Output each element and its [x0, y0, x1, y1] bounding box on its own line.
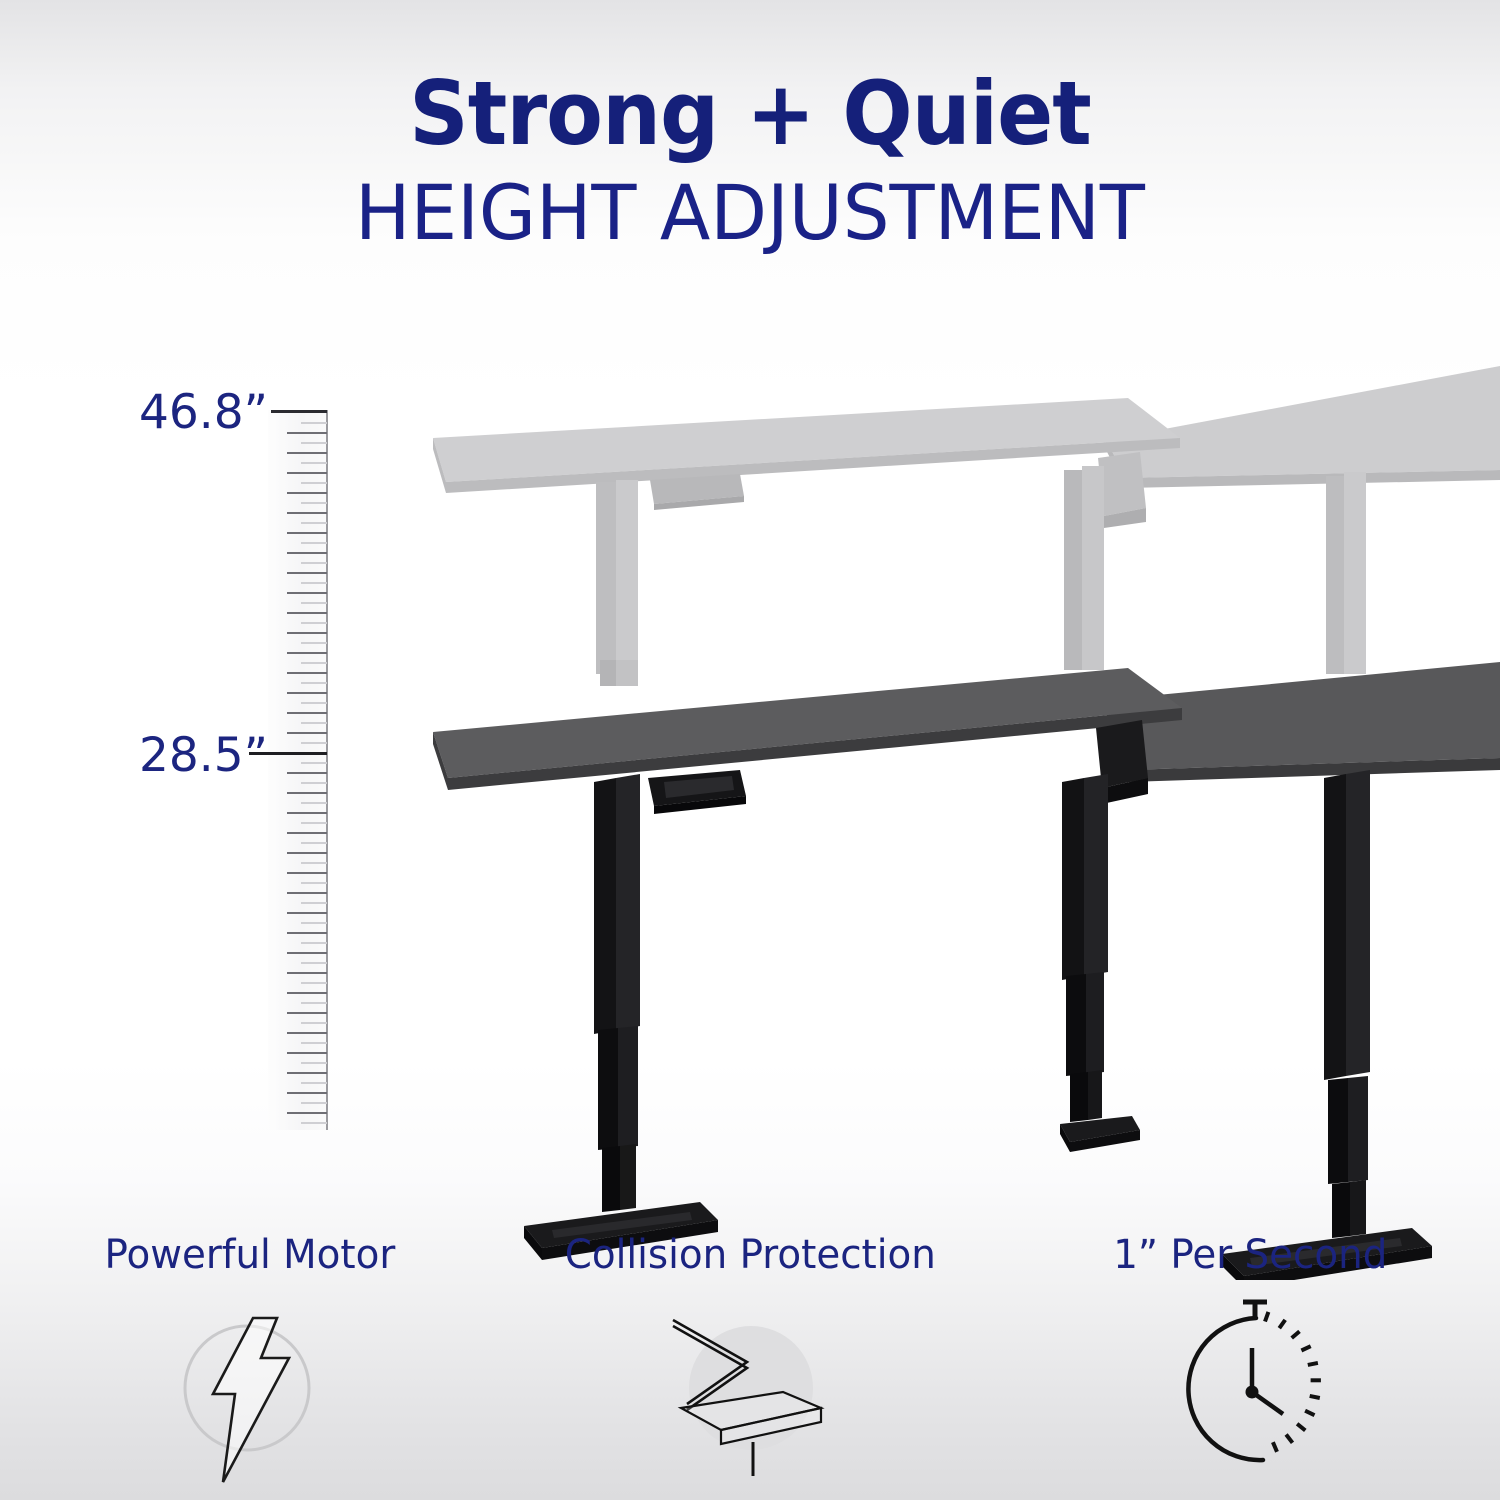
raised-left-leg: [596, 480, 638, 686]
lowered-control-panel: [648, 770, 746, 814]
lowered-return-leg: [1222, 770, 1432, 1280]
lowered-left-leg: [524, 774, 718, 1260]
standing-desk-illustration: [0, 330, 1500, 1280]
feature-label: Collision Protection: [564, 1232, 935, 1278]
feature-label: Powerful Motor: [105, 1232, 396, 1278]
feature-speed: 1” Per Second: [1000, 1232, 1500, 1500]
feature-strip: Powerful Motor Collision Protection 1”: [0, 1232, 1500, 1500]
lowered-corner-leg: [1060, 774, 1140, 1152]
product-infographic: Strong + Quiet HEIGHT ADJUSTMENT 46.8” 2…: [0, 0, 1500, 1500]
page-subtitle: HEIGHT ADJUSTMENT: [23, 170, 1478, 255]
feature-powerful-motor: Powerful Motor: [0, 1232, 500, 1500]
raised-corner-bracket: [1098, 452, 1146, 528]
feature-collision-protection: Collision Protection: [500, 1232, 1000, 1500]
lowered-main-top: [433, 668, 1182, 790]
page-title: Strong + Quiet: [45, 70, 1455, 158]
lightning-bolt-icon: [165, 1296, 335, 1486]
feature-label: 1” Per Second: [1113, 1232, 1387, 1278]
lowered-return-top: [1106, 662, 1500, 782]
raised-corner-leg: [1064, 466, 1104, 670]
clock-icon: [1155, 1296, 1345, 1486]
collision-desk-icon: [635, 1296, 865, 1486]
raised-return-leg: [1326, 472, 1366, 674]
lowered-desk: [433, 662, 1500, 1280]
title-block: Strong + Quiet HEIGHT ADJUSTMENT: [0, 70, 1500, 255]
raised-control-panel: [650, 474, 744, 510]
raised-desk-ghost: [433, 366, 1500, 686]
